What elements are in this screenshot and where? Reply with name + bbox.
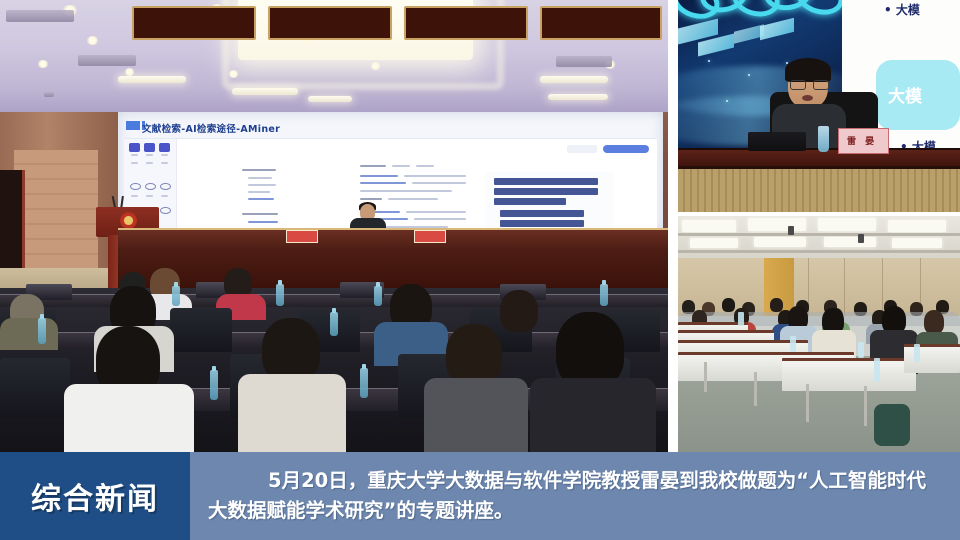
audience-head <box>262 318 320 382</box>
water-bottle <box>874 358 880 382</box>
speaker-box <box>788 226 794 235</box>
ceiling-vent <box>6 10 74 22</box>
aminer-browser-screenshot <box>124 138 657 229</box>
table-leg <box>864 386 867 426</box>
wall-seam <box>882 258 883 316</box>
speaker-box <box>858 234 864 243</box>
table-leg <box>704 362 707 392</box>
audience-head <box>500 290 538 332</box>
note-line <box>494 198 566 205</box>
stage-nameplate <box>414 230 446 243</box>
backpack <box>874 404 910 446</box>
downlight <box>86 36 99 45</box>
audience-head <box>446 324 502 386</box>
wall-seam <box>844 258 845 316</box>
audience-desk <box>0 294 668 307</box>
attendee-head <box>722 298 735 312</box>
audience-area <box>0 288 668 452</box>
stage-nameplate <box>286 230 318 243</box>
note-line <box>500 210 584 217</box>
audience-photo <box>678 216 960 452</box>
water-bottle <box>600 284 608 306</box>
water-bottle <box>330 312 338 336</box>
audience-chair <box>0 358 70 418</box>
downlight <box>228 70 239 78</box>
main-lecture-photo: 文献检索-AI检索途径-AMiner <box>0 0 668 452</box>
attendee-table <box>904 344 960 373</box>
note-line <box>500 220 584 227</box>
caption-bar: 综合新闻 5月20日，重庆大学大数据与软件学院教授雷晏到我校做题为“人工智能时代… <box>0 452 960 540</box>
strip-light <box>540 76 608 83</box>
ceiling-beam <box>678 233 960 236</box>
ceiling-light-tile <box>818 218 876 231</box>
wall-wood-panel <box>14 150 98 282</box>
downlight <box>370 62 381 70</box>
note-line <box>494 188 598 195</box>
sidebar-label <box>146 195 153 197</box>
sidebar-label <box>131 154 138 156</box>
audience-body <box>238 374 346 452</box>
projection-screen: 文献检索-AI检索途径-AMiner <box>118 112 663 230</box>
podium-emblem <box>120 212 137 229</box>
sidebar-label <box>161 154 168 156</box>
sidebar-eye-icon <box>160 207 171 214</box>
water-bottle <box>360 368 368 398</box>
water-bottle <box>738 312 744 326</box>
slide-bullet-top: 大模 <box>884 1 920 18</box>
ceiling-light-tile <box>682 220 736 232</box>
table-leg <box>754 372 757 406</box>
audience-body <box>424 378 528 452</box>
ceiling-light-tile <box>892 238 942 248</box>
search-button <box>603 145 649 153</box>
slide-highlight-text: 大模 <box>888 82 922 107</box>
audience-body <box>530 378 656 452</box>
water-bottle <box>818 126 829 152</box>
category-badge-label: 综合新闻 <box>31 474 159 518</box>
spark <box>748 74 750 76</box>
ceiling-light-tile <box>824 237 876 247</box>
caption-paragraph: 5月20日，重庆大学大数据与软件学院教授雷晏到我校做题为“人工智能时代大数据赋能… <box>208 466 940 526</box>
sidebar-label <box>161 195 168 197</box>
note-line <box>494 178 598 185</box>
audience-body <box>0 318 58 350</box>
sidebar-eye-icon <box>145 183 156 190</box>
ceiling-vent <box>78 55 136 66</box>
nameplate: 雷 晏 <box>838 128 889 154</box>
ceiling-vent <box>44 92 54 97</box>
water-bottle <box>374 286 382 306</box>
caption-text-block: 5月20日，重庆大学大数据与软件学院教授雷晏到我校做题为“人工智能时代大数据赋能… <box>190 452 954 540</box>
speaker-hair <box>785 58 831 82</box>
ceiling-vent <box>556 56 612 67</box>
stage-door <box>0 170 25 282</box>
nameplate-text: 雷 晏 <box>847 134 877 147</box>
laptop <box>748 132 806 151</box>
category-badge: 综合新闻 <box>0 452 190 540</box>
attendee-table <box>782 358 916 391</box>
desk-panel <box>268 6 392 40</box>
light-shard <box>760 18 794 40</box>
head-table-front-panel <box>678 166 960 212</box>
desk-panel <box>404 6 528 40</box>
strip-light <box>118 76 186 83</box>
sidebar-eye-icon <box>130 183 141 190</box>
downlight <box>124 68 135 76</box>
water-bottle <box>172 286 180 306</box>
strip-light <box>548 94 608 100</box>
water-bottle <box>858 342 864 358</box>
spark <box>708 60 710 62</box>
water-bottle <box>276 284 284 306</box>
sidebar-eye-icon <box>160 183 171 190</box>
sidebar-label <box>131 195 138 197</box>
slide-accent-block <box>126 121 140 130</box>
desk-panel <box>132 6 256 40</box>
strip-light <box>232 88 298 95</box>
water-bottle <box>790 336 796 352</box>
ceiling-light-tile <box>748 218 806 231</box>
table-leg <box>806 384 809 422</box>
attendee-head <box>924 310 944 334</box>
speaker-mouth <box>802 95 813 101</box>
news-photo-collage: 文献检索-AI检索途径-AMiner <box>0 0 960 540</box>
sidebar-label <box>146 162 153 164</box>
slide-highlight-box: 大模 <box>876 60 960 130</box>
downlight <box>37 60 49 68</box>
ceiling <box>678 216 960 262</box>
water-bottle <box>210 370 218 400</box>
chain-link-graphic <box>792 0 842 20</box>
speaker-closeup-photo: 大模 大模 大模 雷 晏 <box>678 0 960 212</box>
ceiling-beam <box>678 250 960 253</box>
audience-head <box>556 312 624 388</box>
slide-title: 文献检索-AI检索途径-AMiner <box>142 121 280 135</box>
sidebar-label <box>161 162 168 164</box>
spark <box>726 100 728 102</box>
strip-light <box>308 96 352 102</box>
ceiling-light-tile <box>888 220 946 232</box>
sidebar-app-icon <box>129 143 140 152</box>
desk-panel <box>540 6 662 40</box>
sidebar-label <box>131 162 138 164</box>
sidebar-label <box>146 154 153 156</box>
ceiling-light-tile <box>690 238 738 248</box>
audience-body <box>64 384 194 452</box>
ceiling-light-tile <box>754 237 806 247</box>
sidebar-app-icon <box>159 143 170 152</box>
water-bottle <box>38 318 46 344</box>
search-field <box>567 145 597 153</box>
audience-chair <box>170 308 232 352</box>
eyeglasses <box>790 80 827 88</box>
water-bottle <box>914 344 920 362</box>
sidebar-app-icon <box>144 143 155 152</box>
